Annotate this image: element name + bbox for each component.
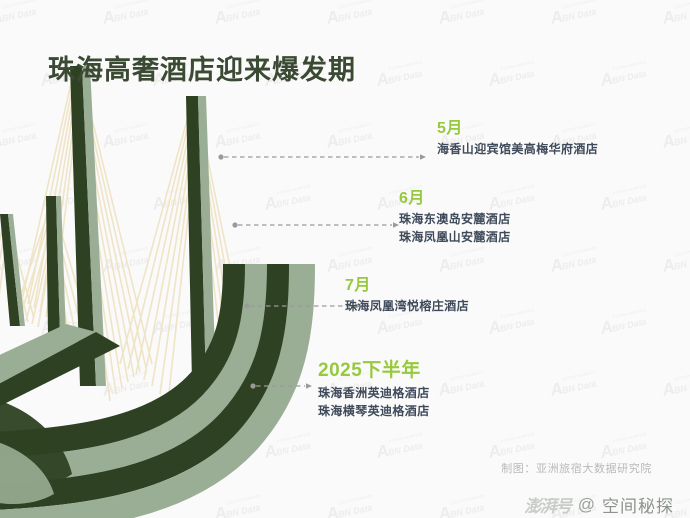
watermark-tile: 亚洲旅宿大数据研究院ABN Data xyxy=(437,247,489,276)
watermark-tile: 亚洲旅宿大数据研究院ABN Data xyxy=(549,247,601,276)
timeline-month-label: 2025下半年 xyxy=(318,358,430,384)
page-title: 珠海高奢酒店迎来爆发期 xyxy=(48,48,356,87)
hotel-name: 珠海香洲英迪格酒店 xyxy=(318,384,430,403)
watermark-tile: 亚洲旅宿大数据研究院ABN Data xyxy=(325,247,377,276)
hotel-name: 珠海横琴英迪格酒店 xyxy=(318,402,430,421)
timeline-arrow xyxy=(250,381,312,391)
watermark-tile: 亚洲旅宿大数据研究院ABN Data xyxy=(661,371,690,400)
watermark-tile: 亚洲旅宿大数据研究院ABN Data xyxy=(661,0,690,28)
watermark-tile: 亚洲旅宿大数据研究院ABN Data xyxy=(213,0,265,28)
timeline-month-label: 6月 xyxy=(399,188,511,210)
timeline-arrow xyxy=(218,152,426,162)
watermark-tile: 亚洲旅宿大数据研究院ABN Data xyxy=(325,0,377,28)
watermark-tile: 亚洲旅宿大数据研究院ABN Data xyxy=(661,123,690,152)
watermark-tile: 亚洲旅宿大数据研究院ABN Data xyxy=(325,123,377,152)
watermark-tile: 亚洲旅宿大数据研究院ABN Data xyxy=(549,371,601,400)
hotel-name: 海香山迎宾馆美高梅华府酒店 xyxy=(437,140,598,159)
watermark-tile: 亚洲旅宿大数据研究院ABN Data xyxy=(375,61,427,90)
account-name: 空间秘探 xyxy=(602,492,674,517)
timeline-arrow xyxy=(232,220,399,230)
timeline-entry: 5月海香山迎宾馆美高梅华府酒店 xyxy=(437,118,598,158)
hotel-name: 珠海凤凰山安麓酒店 xyxy=(399,228,511,247)
pengpai-logo: 澎湃号 xyxy=(524,492,571,517)
watermark-tile: 亚洲旅宿大数据研究院ABN Data xyxy=(375,433,427,462)
watermark-tile: 亚洲旅宿大数据研究院ABN Data xyxy=(437,0,489,28)
watermark-tile: 亚洲旅宿大数据研究院ABN Data xyxy=(101,0,153,28)
infographic-canvas: 亚洲旅宿大数据研究院ABN Data亚洲旅宿大数据研究院ABN Data亚洲旅宿… xyxy=(0,0,690,518)
watermark-tile: 亚洲旅宿大数据研究院ABN Data xyxy=(487,433,539,462)
at-symbol: @ xyxy=(578,495,595,515)
watermark-tile: 亚洲旅宿大数据研究院ABN Data xyxy=(325,495,377,518)
watermark-tile: 亚洲旅宿大数据研究院ABN Data xyxy=(599,61,651,90)
watermark-tile: 亚洲旅宿大数据研究院ABN Data xyxy=(599,185,651,214)
timeline-entry: 2025下半年珠海香洲英迪格酒店珠海横琴英迪格酒店 xyxy=(318,358,430,421)
hotel-name: 珠海东澳岛安麓酒店 xyxy=(399,210,511,229)
watermark-tile: 亚洲旅宿大数据研究院ABN Data xyxy=(487,61,539,90)
timeline-arrow xyxy=(244,301,361,311)
timeline-entry: 6月珠海东澳岛安麓酒店珠海凤凰山安麓酒店 xyxy=(399,188,511,247)
timeline-entry: 7月珠海凤凰湾悦榕庄酒店 xyxy=(345,275,469,315)
watermark-tile: 亚洲旅宿大数据研究院ABN Data xyxy=(437,495,489,518)
watermark-tile: 亚洲旅宿大数据研究院ABN Data xyxy=(549,0,601,28)
watermark-tile: 亚洲旅宿大数据研究院ABN Data xyxy=(0,0,40,28)
chart-credit: 制图：亚洲旅宿大数据研究院 xyxy=(501,460,652,476)
timeline-month-label: 7月 xyxy=(345,275,469,297)
watermark-tile: 亚洲旅宿大数据研究院ABN Data xyxy=(437,371,489,400)
watermark-tile: 亚洲旅宿大数据研究院ABN Data xyxy=(661,247,690,276)
timeline-month-label: 5月 xyxy=(437,118,598,140)
watermark-tile: 亚洲旅宿大数据研究院ABN Data xyxy=(599,433,651,462)
watermark-tile: 亚洲旅宿大数据研究院ABN Data xyxy=(487,309,539,338)
bridge-illustration xyxy=(0,64,330,518)
brand-bar: 澎湃号 @ 空间秘探 xyxy=(524,492,674,517)
hotel-name: 珠海凤凰湾悦榕庄酒店 xyxy=(345,297,469,316)
watermark-tile: 亚洲旅宿大数据研究院ABN Data xyxy=(599,309,651,338)
